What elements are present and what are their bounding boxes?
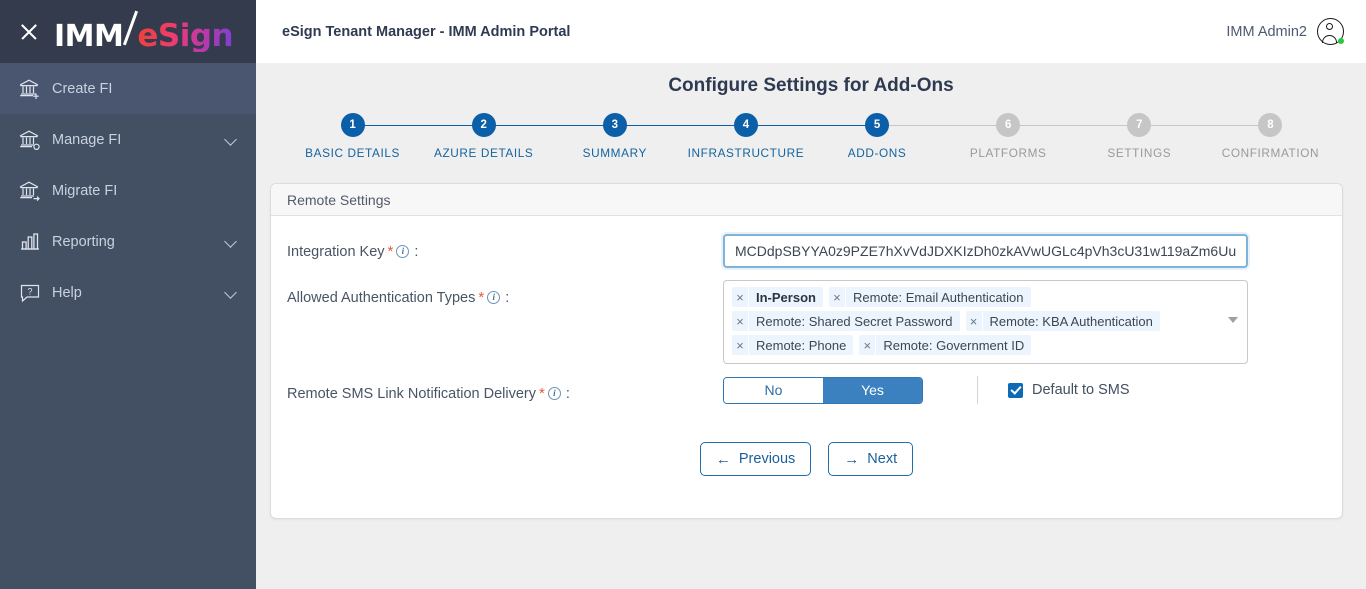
page-title: Configure Settings for Add-Ons [256,63,1366,97]
chip-label: Remote: Phone [749,335,853,355]
step-label: CONFIRMATION [1222,146,1319,160]
default-to-sms-checkbox-row[interactable]: Default to SMS [1008,382,1130,398]
chip-remote-government-id[interactable]: × Remote: Government ID [859,335,1031,355]
close-small-icon[interactable]: × [732,287,749,307]
integration-key-label: Integration Key * i : [287,234,723,260]
field-row-integration-key: Integration Key * i : MCDdpSBYYA0z9PZE7h… [271,234,1342,268]
close-x-icon[interactable] [18,21,40,43]
label-colon: : [505,290,509,306]
user-circle-icon[interactable] [1317,18,1344,45]
step-circle: 3 [603,113,627,137]
user-name-label: IMM Admin2 [1226,24,1307,40]
default-to-sms-checkbox[interactable] [1008,383,1023,398]
step-confirmation[interactable]: 8 CONFIRMATION [1205,113,1336,160]
wizard-nav-buttons: ← Previous → Next [271,442,1342,476]
remote-settings-panel: Remote Settings Integration Key * i : MC… [270,183,1343,519]
bank-plus-icon [18,77,52,101]
avatar-body [1322,35,1337,43]
close-small-icon[interactable]: × [966,311,983,331]
integration-key-input[interactable]: MCDdpSBYYA0z9PZE7hXvVdJDXKIzDh0zkAVwUGLc… [723,234,1248,268]
page-content: Configure Settings for Add-Ons 1 BASIC D… [256,63,1366,519]
step-circle: 1 [341,113,365,137]
auth-types-label: Allowed Authentication Types * i : [287,280,723,306]
step-basic-details[interactable]: 1 BASIC DETAILS [287,113,418,160]
sidebar-item-help[interactable]: ? Help [0,267,256,318]
chip-label: Remote: Government ID [876,335,1031,355]
close-small-icon[interactable]: × [859,335,876,355]
page-breadcrumb-title: eSign Tenant Manager - IMM Admin Portal [282,24,570,40]
step-bar-right [1020,125,1074,127]
step-settings[interactable]: 7 SETTINGS [1074,113,1205,160]
step-infrastructure[interactable]: 4 INFRASTRUCTURE [680,113,811,160]
step-bar-left [1205,125,1259,127]
step-bar-left [943,125,997,127]
next-button[interactable]: → Next [828,442,913,476]
chip-label: In-Person [749,287,823,307]
step-circle: 7 [1127,113,1151,137]
close-small-icon[interactable]: × [732,335,749,355]
step-azure-details[interactable]: 2 AZURE DETAILS [418,113,549,160]
step-add-ons[interactable]: 5 ADD-ONS [812,113,943,160]
sidebar: IMM eSign Create FI [0,0,256,589]
step-bar-left [549,125,603,127]
integration-key-label-text: Integration Key [287,244,385,260]
step-circle: 5 [865,113,889,137]
arrow-right-icon: → [844,452,859,467]
step-circle: 8 [1258,113,1282,137]
close-small-icon[interactable]: × [732,311,749,331]
previous-button[interactable]: ← Previous [700,442,811,476]
chevron-down-icon[interactable] [1228,317,1238,323]
step-label: SETTINGS [1107,146,1171,160]
bank-gear-icon [18,128,52,152]
chip-label: Remote: KBA Authentication [983,311,1160,331]
status-online-dot [1338,38,1344,44]
chip-in-person[interactable]: × In-Person [732,287,823,307]
bank-arrow-icon [18,179,52,203]
step-bar-left [1074,125,1128,127]
step-label: INFRASTRUCTURE [688,146,805,160]
info-icon[interactable]: i [487,291,500,304]
sidebar-header: IMM eSign [0,0,256,63]
logo-slash-icon [122,12,138,46]
default-to-sms-label: Default to SMS [1032,382,1130,398]
bar-chart-icon [18,230,52,254]
step-bar-left [287,125,341,127]
sidebar-item-label: Reporting [52,234,224,250]
arrow-left-icon: ← [716,452,731,467]
integration-key-control: MCDdpSBYYA0z9PZE7hXvVdJDXKIzDh0zkAVwUGLc… [723,234,1342,268]
step-bar-right [627,125,681,127]
label-colon: : [414,244,418,260]
chip-remote-phone[interactable]: × Remote: Phone [732,335,853,355]
integration-key-value: MCDdpSBYYA0z9PZE7hXvVdJDXKIzDh0zkAVwUGLc… [735,243,1236,259]
avatar-head [1326,23,1333,30]
step-label: BASIC DETAILS [305,146,400,160]
top-bar: eSign Tenant Manager - IMM Admin Portal … [256,0,1366,63]
step-circle: 2 [472,113,496,137]
topbar-user-area: IMM Admin2 [1226,18,1344,45]
sms-delivery-control: No Yes Default to SMS [723,376,1342,404]
step-bar-left [418,125,472,127]
sidebar-item-label: Create FI [52,81,238,97]
auth-types-control: × In-Person × Remote: Email Authenticati… [723,280,1342,364]
wizard-stepper: 1 BASIC DETAILS 2 AZURE DETAILS 3 SUMMAR… [287,113,1336,160]
sidebar-item-label: Help [52,285,224,301]
sidebar-item-reporting[interactable]: Reporting [0,216,256,267]
sms-toggle-yes[interactable]: Yes [823,378,922,403]
sidebar-item-create-fi[interactable]: Create FI [0,63,256,114]
sidebar-item-label: Manage FI [52,132,224,148]
step-bar-right [365,125,419,127]
step-label: PLATFORMS [970,146,1047,160]
step-label: AZURE DETAILS [434,146,533,160]
app-root: IMM eSign Create FI [0,0,1366,589]
step-summary[interactable]: 3 SUMMARY [549,113,680,160]
chip-remote-shared-secret-password[interactable]: × Remote: Shared Secret Password [732,311,960,331]
field-row-auth-types: Allowed Authentication Types * i : × In-… [271,280,1342,364]
step-platforms[interactable]: 6 PLATFORMS [943,113,1074,160]
sms-delivery-label: Remote SMS Link Notification Delivery * … [287,376,723,402]
info-icon[interactable]: i [396,245,409,258]
step-bar-right [758,125,812,127]
panel-header: Remote Settings [271,184,1342,216]
sms-delivery-toggle[interactable]: No Yes [723,377,923,404]
required-asterisk: * [478,289,484,306]
sidebar-item-manage-fi[interactable]: Manage FI [0,114,256,165]
chip-label: Remote: Email Authentication [846,287,1031,307]
help-question-icon: ? [18,281,52,305]
logo-text-imm: IMM [54,22,123,52]
step-bar-right [496,125,550,127]
chip-remote-email-authentication[interactable]: × Remote: Email Authentication [829,287,1031,307]
step-circle: 4 [734,113,758,137]
field-row-sms-delivery: Remote SMS Link Notification Delivery * … [271,376,1342,404]
step-bar-right [1151,125,1205,127]
sms-delivery-label-text: Remote SMS Link Notification Delivery [287,386,536,402]
vertical-divider [977,376,978,404]
auth-types-label-text: Allowed Authentication Types [287,290,475,306]
step-circle: 6 [996,113,1020,137]
label-colon: : [566,386,570,402]
close-small-icon[interactable]: × [829,287,846,307]
step-bar-right [889,125,943,127]
chevron-down-icon[interactable] [224,286,238,300]
main-area: eSign Tenant Manager - IMM Admin Portal … [256,0,1366,589]
app-logo: IMM eSign [54,12,233,52]
step-label: ADD-ONS [848,146,907,160]
svg-text:?: ? [27,286,32,296]
sms-toggle-no[interactable]: No [724,378,823,403]
info-icon[interactable]: i [548,387,561,400]
step-bar-left [680,125,734,127]
auth-types-multiselect[interactable]: × In-Person × Remote: Email Authenticati… [723,280,1248,364]
chevron-down-icon[interactable] [224,133,238,147]
step-bar-right [1282,125,1336,127]
next-button-label: Next [867,451,897,467]
panel-body: Integration Key * i : MCDdpSBYYA0z9PZE7h… [271,216,1342,476]
chip-remote-kba-authentication[interactable]: × Remote: KBA Authentication [966,311,1160,331]
step-label: SUMMARY [583,146,647,160]
sidebar-item-migrate-fi[interactable]: Migrate FI [0,165,256,216]
step-bar-left [812,125,866,127]
sidebar-item-label: Migrate FI [52,183,238,199]
required-asterisk: * [539,385,545,402]
chevron-down-icon[interactable] [224,235,238,249]
logo-text-esign: eSign [137,21,233,52]
previous-button-label: Previous [739,451,795,467]
chip-label: Remote: Shared Secret Password [749,311,960,331]
required-asterisk: * [388,243,394,260]
